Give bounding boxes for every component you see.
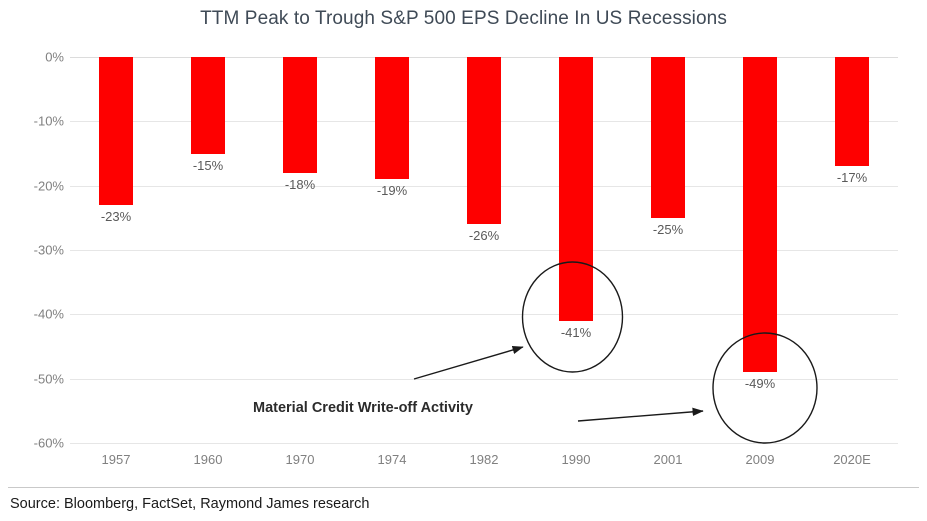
y-axis: 0%-10%-20%-30%-40%-50%-60%	[0, 57, 64, 443]
annotation-label-material-credit-write-off-activity: Material Credit Write-off Activity	[253, 400, 473, 416]
source-note: Source: Bloomberg, FactSet, Raymond Jame…	[10, 496, 369, 512]
bar-1970	[283, 57, 317, 173]
bar-1960	[191, 57, 225, 154]
bar-1974	[375, 57, 409, 179]
bar-value-label-2020E: -17%	[837, 170, 867, 185]
x-axis-tick-label-1974: 1974	[378, 452, 407, 467]
bar-value-label-2009: -49%	[745, 376, 775, 391]
bar-1957	[99, 57, 133, 205]
x-axis: 195719601970197419821990200120092020E	[70, 452, 898, 474]
x-axis-tick-label-1982: 1982	[470, 452, 499, 467]
bar-value-label-1957: -23%	[101, 209, 131, 224]
bar-value-label-1970: -18%	[285, 177, 315, 192]
plot-area: -23%-15%-18%-19%-26%-41%-25%-49%-17%	[70, 57, 898, 443]
x-axis-tick-label-1990: 1990	[562, 452, 591, 467]
x-axis-tick-label-1960: 1960	[194, 452, 223, 467]
x-axis-tick-label-1970: 1970	[286, 452, 315, 467]
bar-value-label-1960: -15%	[193, 158, 223, 173]
y-axis-tick-label: -40%	[6, 307, 64, 322]
y-axis-tick-label: -10%	[6, 114, 64, 129]
x-axis-tick-label-1957: 1957	[102, 452, 131, 467]
chart-container: TTM Peak to Trough S&P 500 EPS Decline I…	[0, 0, 927, 521]
y-axis-tick-label: -20%	[6, 178, 64, 193]
x-axis-tick-label-2020E: 2020E	[833, 452, 871, 467]
bar-2020E	[835, 57, 869, 166]
bar-value-label-1990: -41%	[561, 325, 591, 340]
x-axis-tick-label-2001: 2001	[654, 452, 683, 467]
bar-value-label-1974: -19%	[377, 183, 407, 198]
bar-2009	[743, 57, 777, 372]
bar-value-label-2001: -25%	[653, 222, 683, 237]
footer-divider	[8, 487, 919, 488]
bar-value-label-1982: -26%	[469, 228, 499, 243]
bar-1990	[559, 57, 593, 321]
bar-1982	[467, 57, 501, 224]
y-axis-tick-label: -50%	[6, 371, 64, 386]
y-axis-tick-label: -60%	[6, 436, 64, 451]
y-axis-tick-label: 0%	[6, 50, 64, 65]
gridline	[70, 443, 898, 444]
bar-2001	[651, 57, 685, 218]
x-axis-tick-label-2009: 2009	[746, 452, 775, 467]
page-title: TTM Peak to Trough S&P 500 EPS Decline I…	[0, 8, 927, 30]
y-axis-tick-label: -30%	[6, 243, 64, 258]
